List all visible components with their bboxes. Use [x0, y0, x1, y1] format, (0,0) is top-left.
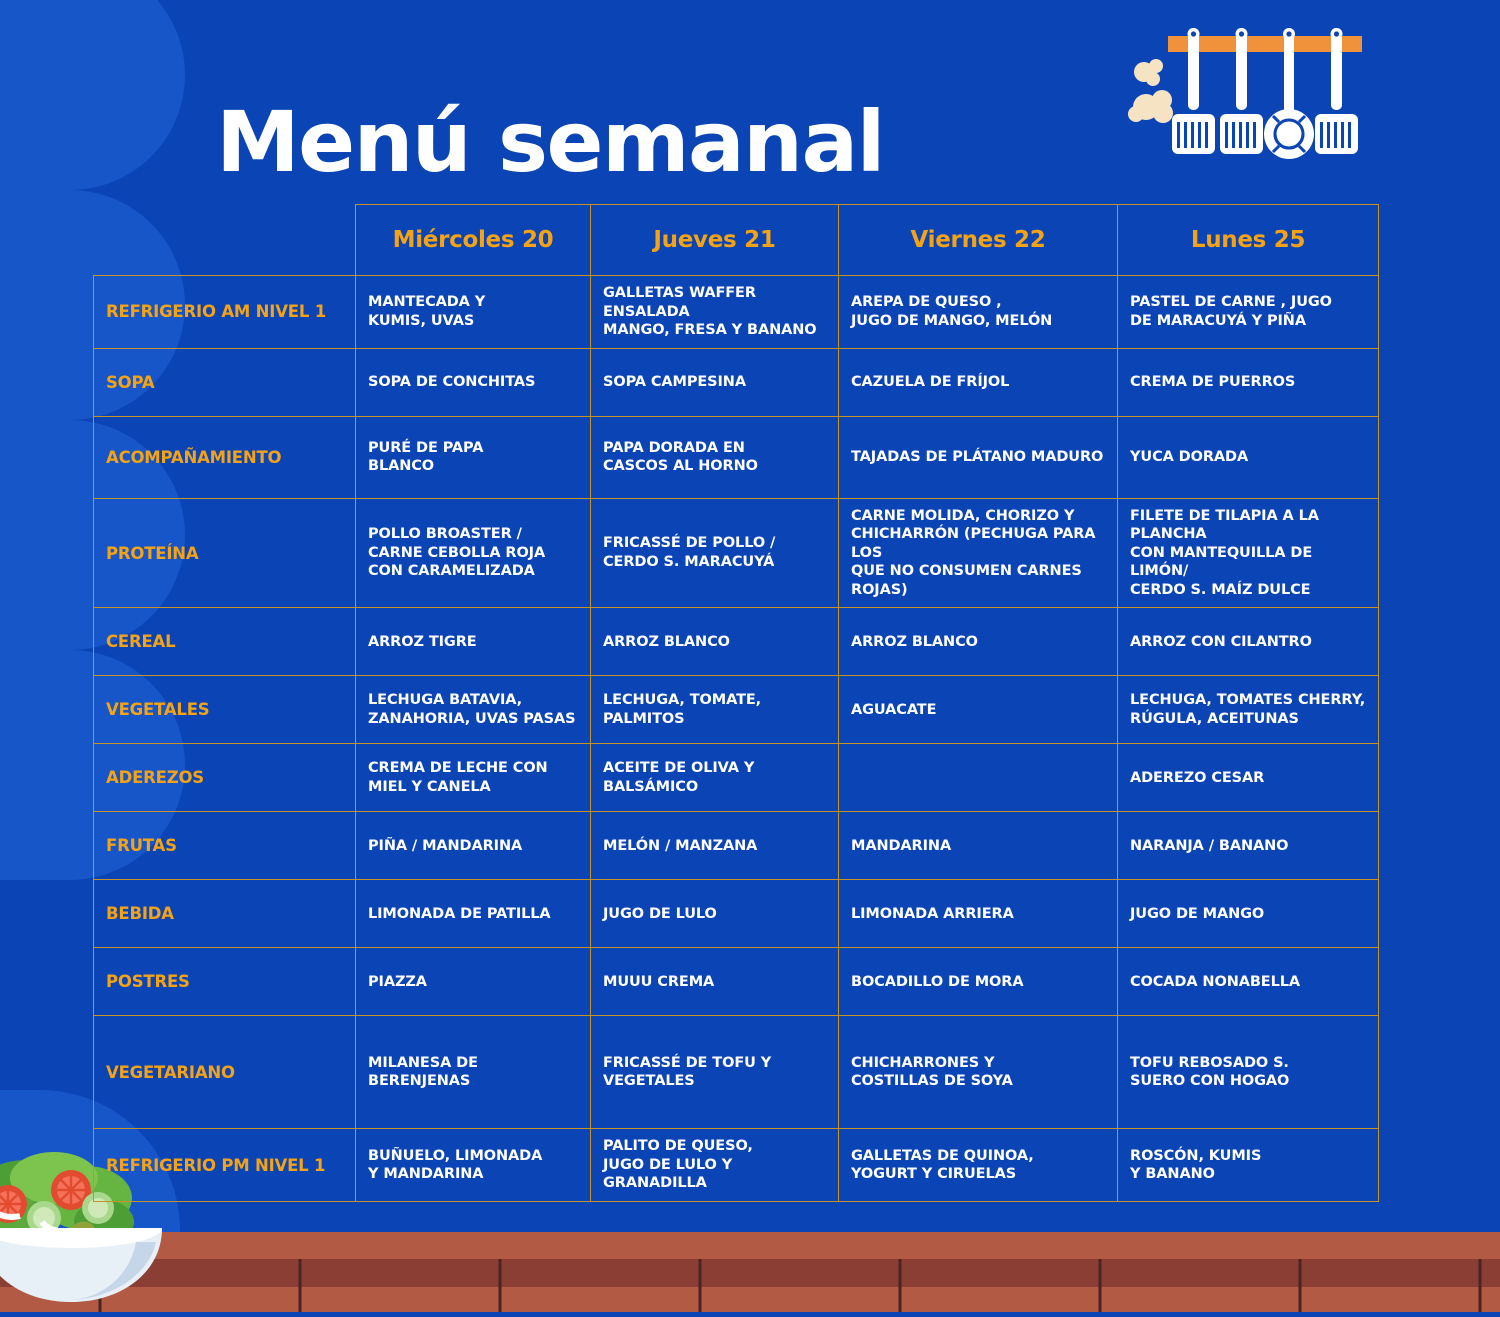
cell-sopa-miercoles-20: SOPA DE CONCHITAS: [356, 348, 591, 416]
cell-vegetales-lunes-25: LECHUGA, TOMATES CHERRY,RÚGULA, ACEITUNA…: [1118, 676, 1379, 744]
table-row: VEGETALESLECHUGA BATAVIA,ZANAHORIA, UVAS…: [94, 676, 1379, 744]
table-row: POSTRESPIAZZAMUUU CREMABOCADILLO DE MORA…: [94, 948, 1379, 1016]
cell-acompanamiento-lunes-25: YUCA DORADA: [1118, 416, 1379, 498]
cell-refrigerio-pm-nivel-1-miercoles-20: BUÑUELO, LIMONADAY MANDARINA: [356, 1129, 591, 1202]
cell-refrigerio-pm-nivel-1-jueves-21: PALITO DE QUESO,JUGO DE LULO YGRANADILLA: [591, 1129, 839, 1202]
cell-vegetariano-jueves-21: FRICASSÉ DE TOFU YVEGETALES: [591, 1016, 839, 1129]
cell-sopa-jueves-21: SOPA CAMPESINA: [591, 348, 839, 416]
cell-acompanamiento-jueves-21: PAPA DORADA ENCASCOS AL HORNO: [591, 416, 839, 498]
cell-refrigerio-am-nivel-1-miercoles-20: MANTECADA YKUMIS, UVAS: [356, 276, 591, 349]
cell-aderezos-jueves-21: ACEITE DE OLIVA YBALSÁMICO: [591, 744, 839, 812]
cell-vegetales-miercoles-20: LECHUGA BATAVIA,ZANAHORIA, UVAS PASAS: [356, 676, 591, 744]
cell-sopa-viernes-22: CAZUELA DE FRÍJOL: [839, 348, 1118, 416]
cell-frutas-miercoles-20: PIÑA / MANDARINA: [356, 812, 591, 880]
cell-refrigerio-am-nivel-1-viernes-22: AREPA DE QUESO ,JUGO DE MANGO, MELÓN: [839, 276, 1118, 349]
cell-cereal-viernes-22: ARROZ BLANCO: [839, 608, 1118, 676]
cell-refrigerio-pm-nivel-1-lunes-25: ROSCÓN, KUMISY BANANO: [1118, 1129, 1379, 1202]
cell-frutas-lunes-25: NARANJA / BANANO: [1118, 812, 1379, 880]
cell-vegetariano-viernes-22: CHICHARRONES YCOSTILLAS DE SOYA: [839, 1016, 1118, 1129]
kitchen-utensils-icon: [1126, 14, 1398, 174]
table-row: ACOMPAÑAMIENTOPURÉ DE PAPABLANCOPAPA DOR…: [94, 416, 1379, 498]
cell-vegetariano-lunes-25: TOFU REBOSADO S.SUERO CON HOGAO: [1118, 1016, 1379, 1129]
cell-aderezos-viernes-22: [839, 744, 1118, 812]
table-row: FRUTASPIÑA / MANDARINAMELÓN / MANZANAMAN…: [94, 812, 1379, 880]
cell-bebida-viernes-22: LIMONADA ARRIERA: [839, 880, 1118, 948]
cell-refrigerio-am-nivel-1-jueves-21: GALLETAS WAFFER ENSALADAMANGO, FRESA Y B…: [591, 276, 839, 349]
row-label-sopa: SOPA: [94, 348, 356, 416]
weekly-menu-table: Miércoles 20 Jueves 21 Viernes 22 Lunes …: [93, 204, 1379, 1202]
cell-proteina-lunes-25: FILETE DE TILAPIA A LA PLANCHACON MANTEQ…: [1118, 498, 1379, 608]
steam-puff-icon: [1128, 59, 1173, 123]
cell-vegetales-viernes-22: AGUACATE: [839, 676, 1118, 744]
cell-acompanamiento-miercoles-20: PURÉ DE PAPABLANCO: [356, 416, 591, 498]
cell-cereal-jueves-21: ARROZ BLANCO: [591, 608, 839, 676]
cell-postres-miercoles-20: PIAZZA: [356, 948, 591, 1016]
row-label-vegetales: VEGETALES: [94, 676, 356, 744]
row-label-refrigerio-pm-nivel-1: REFRIGERIO PM NIVEL 1: [94, 1129, 356, 1202]
cell-postres-viernes-22: BOCADILLO DE MORA: [839, 948, 1118, 1016]
row-label-acompanamiento: ACOMPAÑAMIENTO: [94, 416, 356, 498]
cell-vegetales-jueves-21: LECHUGA, TOMATE,PALMITOS: [591, 676, 839, 744]
table-row: PROTEÍNAPOLLO BROASTER /CARNE CEBOLLA RO…: [94, 498, 1379, 608]
cell-proteina-jueves-21: FRICASSÉ DE POLLO /CERDO S. MARACUYÁ: [591, 498, 839, 608]
cell-cereal-lunes-25: ARROZ CON CILANTRO: [1118, 608, 1379, 676]
cell-cereal-miercoles-20: ARROZ TIGRE: [356, 608, 591, 676]
cell-refrigerio-am-nivel-1-lunes-25: PASTEL DE CARNE , JUGODE MARACUYÁ Y PIÑA: [1118, 276, 1379, 349]
table-row: VEGETARIANOMILANESA DE BERENJENASFRICASS…: [94, 1016, 1379, 1129]
skimmer-icon: [1264, 109, 1314, 159]
row-label-cereal: CEREAL: [94, 608, 356, 676]
column-header-jueves: Jueves 21: [591, 205, 839, 276]
table-row: SOPASOPA DE CONCHITASSOPA CAMPESINACAZUE…: [94, 348, 1379, 416]
column-header-viernes: Viernes 22: [839, 205, 1118, 276]
cell-proteina-viernes-22: CARNE MOLIDA, CHORIZO YCHICHARRÓN (PECHU…: [839, 498, 1118, 608]
cell-aderezos-lunes-25: ADEREZO CESAR: [1118, 744, 1379, 812]
cell-frutas-jueves-21: MELÓN / MANZANA: [591, 812, 839, 880]
table-row: REFRIGERIO AM NIVEL 1MANTECADA YKUMIS, U…: [94, 276, 1379, 349]
cell-bebida-lunes-25: JUGO DE MANGO: [1118, 880, 1379, 948]
row-label-frutas: FRUTAS: [94, 812, 356, 880]
table-header-row: Miércoles 20 Jueves 21 Viernes 22 Lunes …: [94, 205, 1379, 276]
table-row: BEBIDALIMONADA DE PATILLAJUGO DE LULOLIM…: [94, 880, 1379, 948]
brick-floor-icon: [0, 1232, 1500, 1312]
page-title: Menú semanal: [0, 98, 1100, 186]
cell-aderezos-miercoles-20: CREMA DE LECHE CONMIEL Y CANELA: [356, 744, 591, 812]
table-corner-cell: [94, 205, 356, 276]
cell-proteina-miercoles-20: POLLO BROASTER /CARNE CEBOLLA ROJACON CA…: [356, 498, 591, 608]
row-label-refrigerio-am-nivel-1: REFRIGERIO AM NIVEL 1: [94, 276, 356, 349]
column-header-miercoles: Miércoles 20: [356, 205, 591, 276]
cell-postres-jueves-21: MUUU CREMA: [591, 948, 839, 1016]
table-body: REFRIGERIO AM NIVEL 1MANTECADA YKUMIS, U…: [94, 276, 1379, 1202]
row-label-bebida: BEBIDA: [94, 880, 356, 948]
cell-acompanamiento-viernes-22: TAJADAS DE PLÁTANO MADURO: [839, 416, 1118, 498]
cell-bebida-miercoles-20: LIMONADA DE PATILLA: [356, 880, 591, 948]
table-row: CEREALARROZ TIGREARROZ BLANCOARROZ BLANC…: [94, 608, 1379, 676]
column-header-lunes: Lunes 25: [1118, 205, 1379, 276]
cell-bebida-jueves-21: JUGO DE LULO: [591, 880, 839, 948]
table-row: REFRIGERIO PM NIVEL 1BUÑUELO, LIMONADAY …: [94, 1129, 1379, 1202]
table-row: ADEREZOSCREMA DE LECHE CONMIEL Y CANELAA…: [94, 744, 1379, 812]
row-label-vegetariano: VEGETARIANO: [94, 1016, 356, 1129]
row-label-proteina: PROTEÍNA: [94, 498, 356, 608]
row-label-postres: POSTRES: [94, 948, 356, 1016]
cell-frutas-viernes-22: MANDARINA: [839, 812, 1118, 880]
cell-sopa-lunes-25: CREMA DE PUERROS: [1118, 348, 1379, 416]
cell-refrigerio-pm-nivel-1-viernes-22: GALLETAS DE QUINOA,YOGURT Y CIRUELAS: [839, 1129, 1118, 1202]
cell-vegetariano-miercoles-20: MILANESA DE BERENJENAS: [356, 1016, 591, 1129]
row-label-aderezos: ADEREZOS: [94, 744, 356, 812]
cell-postres-lunes-25: COCADA NONABELLA: [1118, 948, 1379, 1016]
